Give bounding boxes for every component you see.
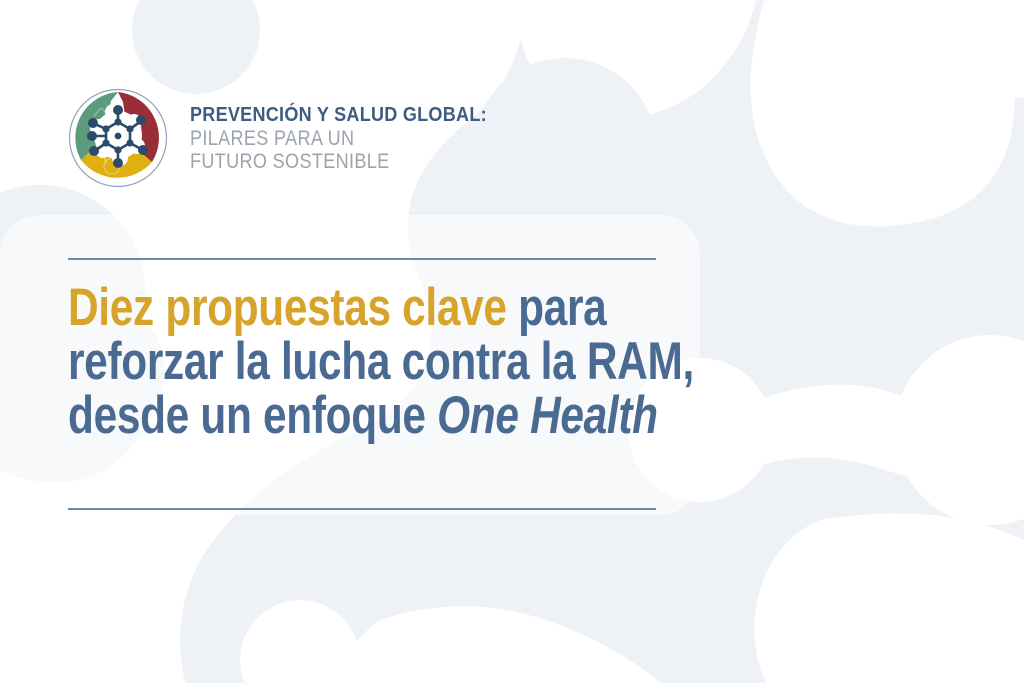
brand-title-line-2: PILARES PARA UN bbox=[190, 127, 480, 151]
headline-accent-text: Diez propuestas clave bbox=[68, 278, 507, 337]
headline-line-1-rest: para bbox=[507, 278, 607, 337]
divider-bottom bbox=[68, 508, 656, 510]
brand-title-block: PREVENCIÓN Y SALUD GLOBAL: PILARES PARA … bbox=[190, 102, 527, 175]
headline-line-3: desde un enfoque One Health bbox=[68, 390, 788, 442]
headline-emphasis-one-health: One Health bbox=[437, 386, 658, 445]
poster-canvas: PREVENCIÓN Y SALUD GLOBAL: PILARES PARA … bbox=[0, 0, 1024, 683]
brand-title-line-3: FUTURO SOSTENIBLE bbox=[190, 150, 480, 174]
brand-title-line-1: PREVENCIÓN Y SALUD GLOBAL: bbox=[190, 104, 487, 127]
headline-line-2: reforzar la lucha contra la RAM, bbox=[68, 336, 788, 388]
headline-line-3-plain: desde un enfoque bbox=[68, 386, 437, 445]
divider-top bbox=[68, 258, 656, 260]
page-title: Diez propuestas clave para reforzar la l… bbox=[68, 282, 968, 445]
brand-header: PREVENCIÓN Y SALUD GLOBAL: PILARES PARA … bbox=[68, 88, 527, 188]
virus-molecule-circle-logo bbox=[68, 88, 168, 188]
headline-line-1: Diez propuestas clave para bbox=[68, 282, 788, 334]
